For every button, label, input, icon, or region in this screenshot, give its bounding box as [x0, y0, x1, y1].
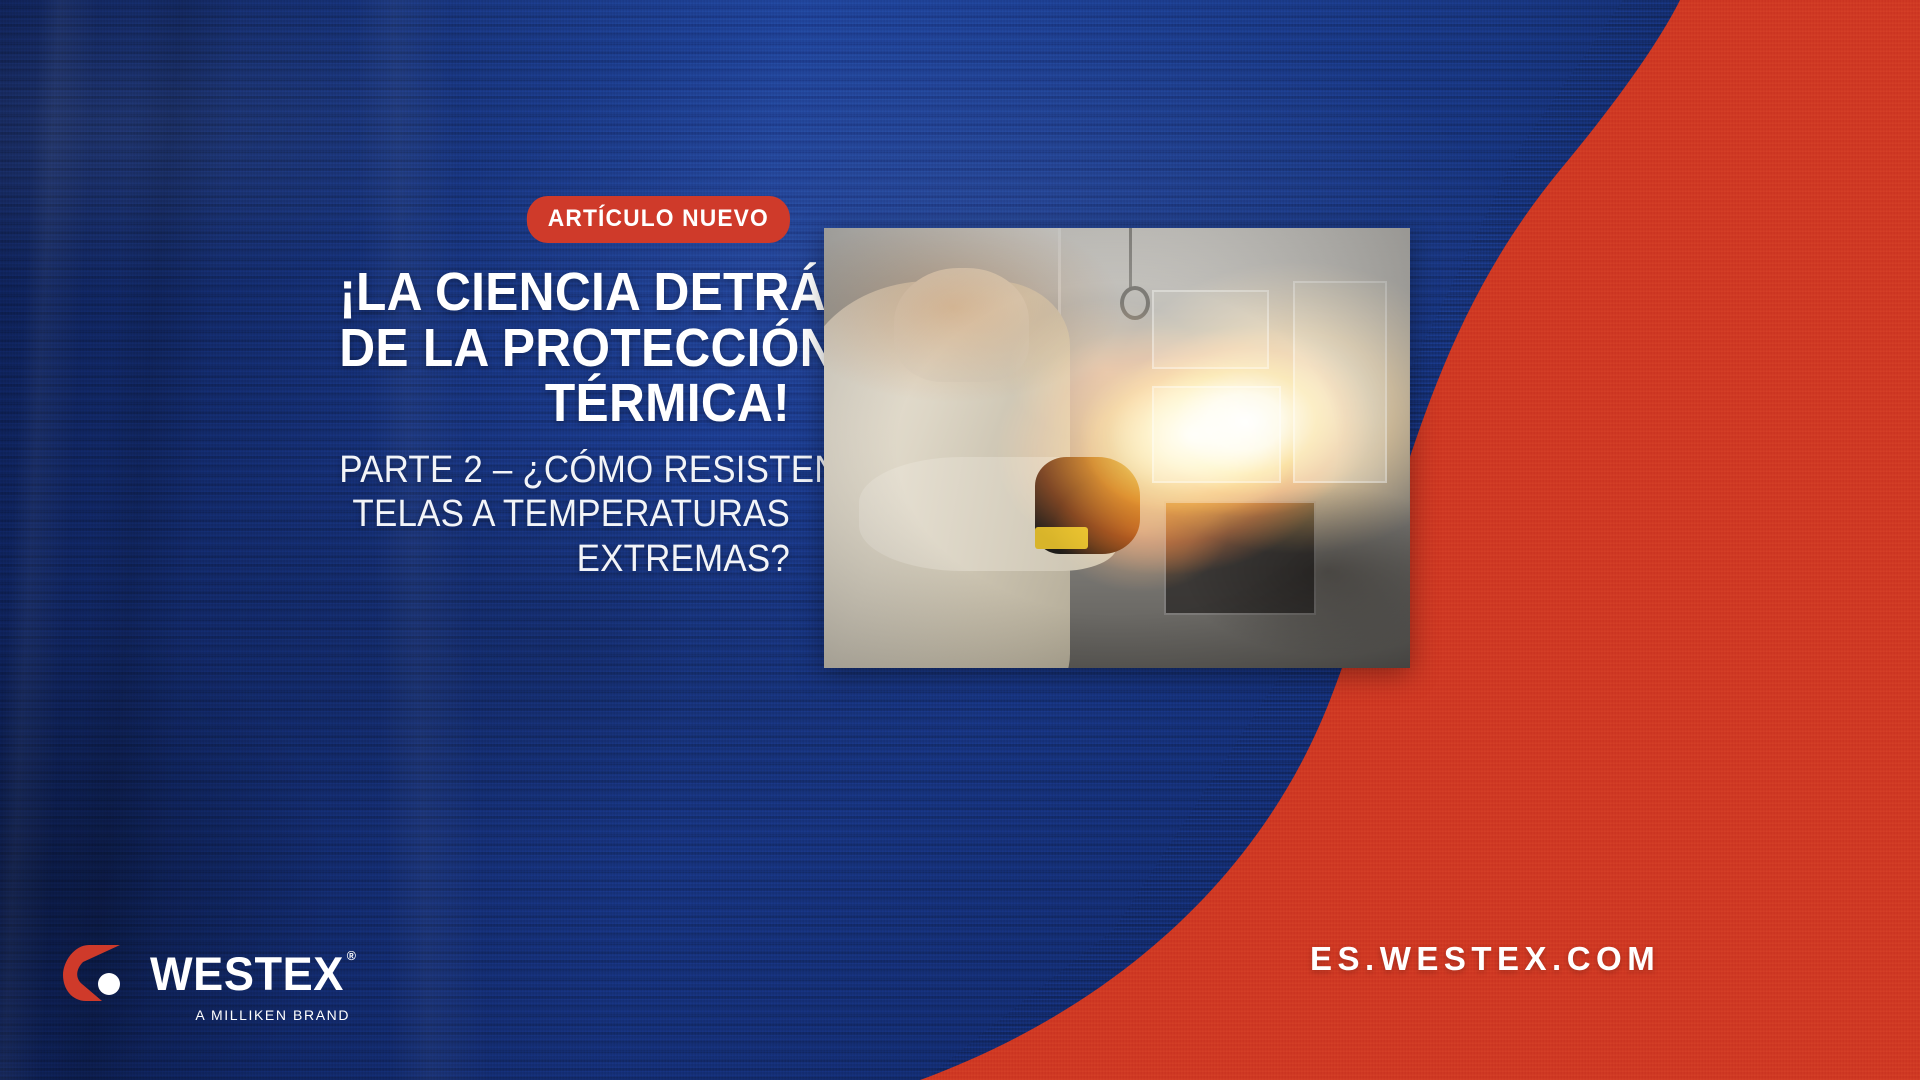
- photo-vignette: [824, 228, 1410, 668]
- subtitle-line-1: PARTE 2 – ¿CÓMO RESISTEN LAS: [339, 448, 790, 492]
- website-url[interactable]: ES.WESTEX.COM: [1310, 940, 1660, 978]
- logo-wordmark: WESTEX®: [150, 946, 344, 1001]
- promo-banner: ARTÍCULO NUEVO ¡LA CIENCIA DETRÁS DE LA …: [0, 0, 1920, 1080]
- headline-block: ARTÍCULO NUEVO ¡LA CIENCIA DETRÁS DE LA …: [300, 196, 790, 581]
- westex-logo: WESTEX® A MILLIKEN BRAND: [62, 944, 352, 1023]
- registered-mark: ®: [347, 948, 357, 963]
- page-subtitle: PARTE 2 – ¿CÓMO RESISTEN LAS TELAS A TEM…: [339, 448, 790, 581]
- headline-line-1: ¡LA CIENCIA DETRÁS: [339, 265, 790, 321]
- headline-line-3: TÉRMICA!: [339, 376, 790, 432]
- subtitle-line-3: EXTREMAS?: [339, 537, 790, 581]
- article-photo: [824, 228, 1410, 668]
- westex-swoosh-icon: [62, 944, 136, 1002]
- logo-brand-name: WESTEX: [150, 947, 344, 1000]
- subtitle-line-2: TELAS A TEMPERATURAS: [339, 492, 790, 536]
- headline-line-2: DE LA PROTECCIÓN: [339, 321, 790, 377]
- logo-row: WESTEX®: [62, 944, 352, 1002]
- status-badge: ARTÍCULO NUEVO: [527, 196, 790, 243]
- page-title: ¡LA CIENCIA DETRÁS DE LA PROTECCIÓN TÉRM…: [339, 265, 790, 432]
- logo-tagline: A MILLIKEN BRAND: [195, 1007, 350, 1023]
